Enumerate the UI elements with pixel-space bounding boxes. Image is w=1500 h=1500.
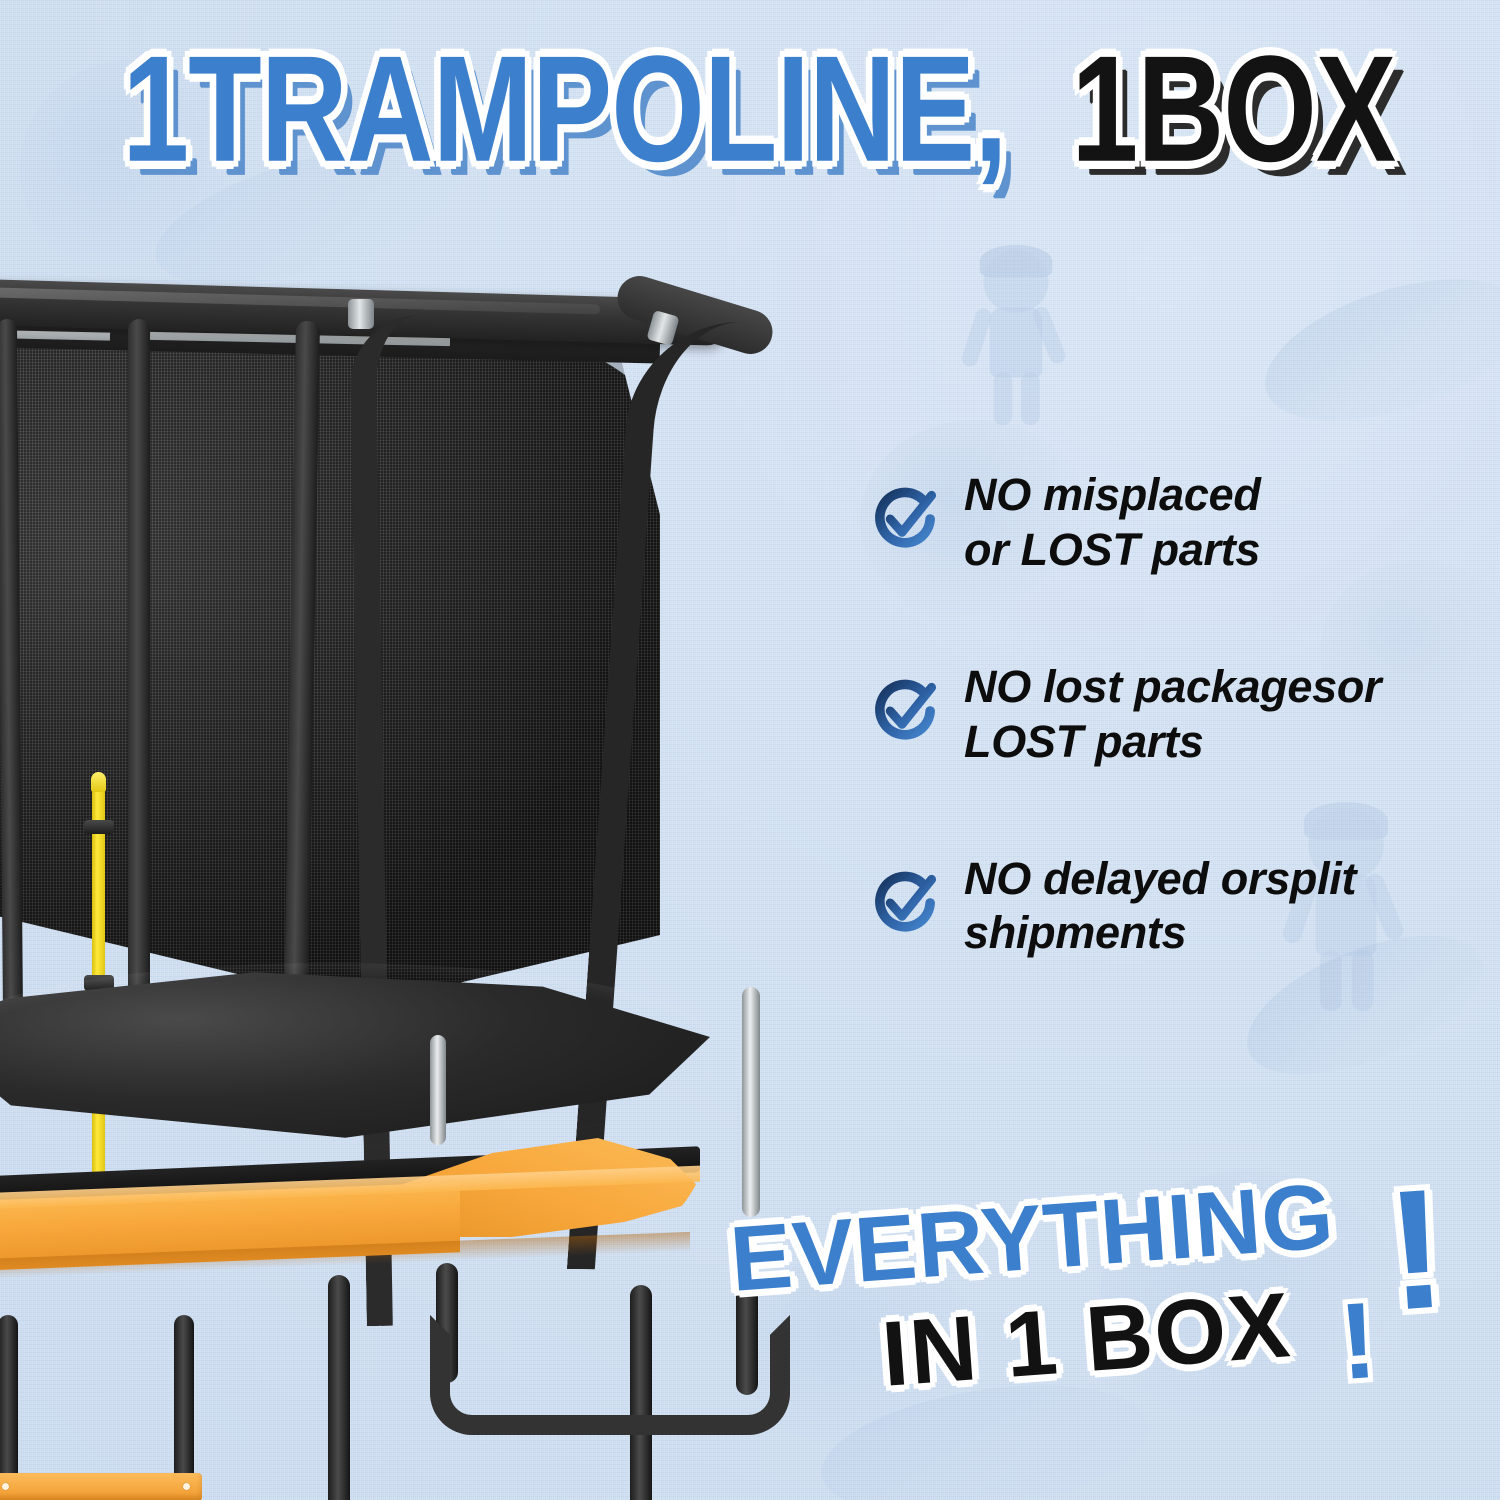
- net-zipper-top-cap: [91, 772, 106, 792]
- ladder-rivet: [183, 1483, 190, 1490]
- poster-canvas: 1TRAMPOLINE,1BOX: [0, 0, 1500, 1500]
- orange-spring-safety-pad: [0, 1075, 780, 1305]
- pole-metal-sleeve: [430, 1035, 446, 1145]
- benefit-line-1: NO lost packagesor: [964, 661, 1381, 712]
- callout-exclamation-top: !: [1383, 1172, 1450, 1329]
- list-item-label: NO delayed orsplit shipments: [964, 852, 1356, 962]
- rim-highlight: [0, 287, 600, 314]
- page-title: 1TRAMPOLINE,1BOX: [0, 46, 1500, 174]
- check-circle-icon: [868, 482, 942, 556]
- net-zipper-clip: [84, 820, 114, 834]
- ladder-step: [0, 1473, 202, 1500]
- bottom-callout: EVERYTHING ! IN 1 BOX !: [700, 1180, 1500, 1480]
- frame-leg-vertical: [328, 1275, 350, 1500]
- callout-exclamation-bottom: !: [1337, 1291, 1380, 1390]
- list-item: NO misplaced or LOST parts: [868, 468, 1468, 578]
- benefit-line-1: NO misplaced: [964, 469, 1261, 520]
- headline-part-trampoline: 1TRAMPOLINE,: [122, 34, 1006, 185]
- check-circle-icon: [868, 866, 942, 940]
- headline-part-box: 1BOX: [1072, 34, 1396, 185]
- list-item-label: NO misplaced or LOST parts: [964, 468, 1261, 578]
- pole-connector: [348, 299, 374, 329]
- benefit-line-2: shipments: [964, 907, 1186, 958]
- list-item-label: NO lost packagesor LOST parts: [964, 660, 1381, 770]
- watermark-trampoline-ellipse: [1248, 251, 1500, 449]
- ladder-rivet: [2, 1483, 9, 1490]
- benefits-list: NO misplaced or LOST parts: [868, 468, 1468, 1043]
- enclosure-pole: [128, 319, 150, 999]
- check-circle-icon: [868, 674, 942, 748]
- benefit-line-1: NO delayed orsplit: [964, 853, 1356, 904]
- list-item: NO delayed orsplit shipments: [868, 852, 1468, 962]
- benefit-line-2: LOST parts: [964, 716, 1204, 767]
- benefit-line-2: or LOST parts: [964, 524, 1260, 575]
- list-item: NO lost packagesor LOST parts: [868, 660, 1468, 770]
